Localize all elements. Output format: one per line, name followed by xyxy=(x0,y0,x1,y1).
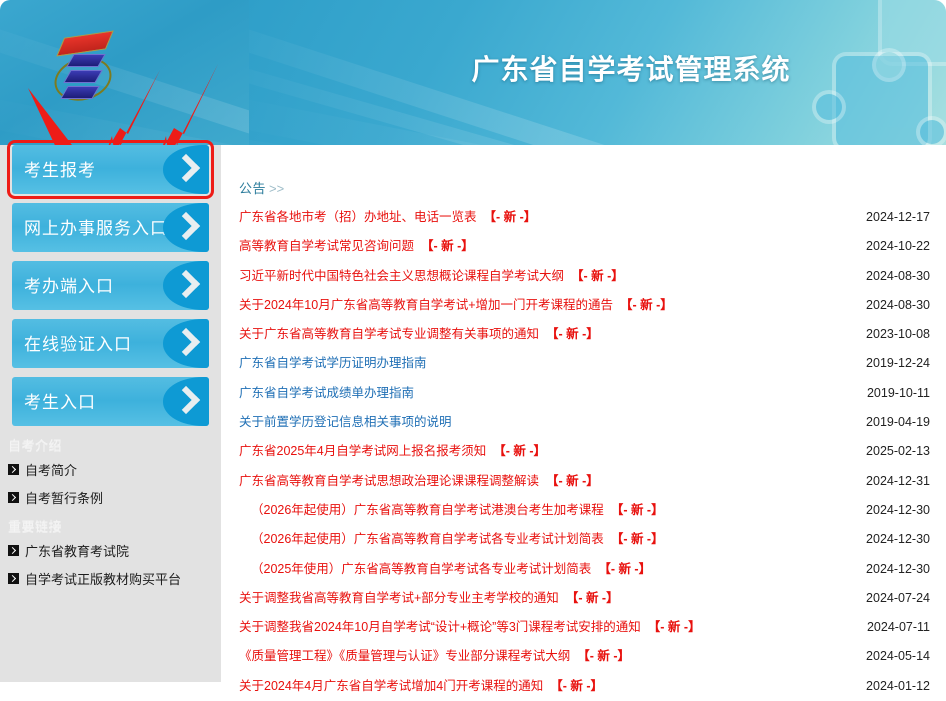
notice-title-link[interactable]: 关于调整我省高等教育自学考试+部分专业主考学校的通知 xyxy=(239,591,559,605)
new-badge: 【- 新 -】 xyxy=(546,474,599,488)
new-badge: 【- 新 -】 xyxy=(598,562,651,576)
sidebar-nav-online-service-portal[interactable]: 网上办事服务入口 xyxy=(12,203,209,252)
notice-title-link[interactable]: 《质量管理工程》《质量管理与认证》专业部分课程考试大纲 xyxy=(239,649,570,663)
new-badge: 【- 新 -】 xyxy=(577,649,630,663)
notice-title-link[interactable]: （2025年使用）广东省高等教育自学考试各专业考试计划简表 xyxy=(251,562,591,576)
notice-list: 广东省各地市考（招）办地址、电话一览表【- 新 -】2024-12-17高等教育… xyxy=(221,203,946,701)
notice-row[interactable]: （2026年起使用）广东省高等教育自学考试各专业考试计划简表【- 新 -】202… xyxy=(221,525,946,554)
notice-title-link[interactable]: 高等教育自学考试常见咨询问题 xyxy=(239,239,414,253)
notice-row[interactable]: （2026年起使用）广东省高等教育自学考试港澳台考生加考课程【- 新 -】202… xyxy=(221,496,946,525)
notice-title-link[interactable]: （2026年起使用）广东省高等教育自学考试港澳台考生加考课程 xyxy=(251,503,604,517)
new-badge: 【- 新 -】 xyxy=(421,239,474,253)
notice-row[interactable]: 关于广东省高等教育自学考试专业调整有关事项的通知【- 新 -】2023-10-0… xyxy=(221,320,946,349)
notice-title-link[interactable]: 关于调整我省2024年10月自学考试“设计+概论”等3门课程考试安排的通知 xyxy=(239,620,641,634)
notice-row[interactable]: 广东省自学考试学历证明办理指南2019-12-24 xyxy=(221,349,946,378)
notice-row[interactable]: 关于调整我省高等教育自学考试+部分专业主考学校的通知【- 新 -】2024-07… xyxy=(221,584,946,613)
header-banner: 广东省自学考试管理系统 xyxy=(249,0,946,145)
site-logo-icon xyxy=(52,32,116,108)
new-badge: 【- 新 -】 xyxy=(550,679,603,693)
new-badge: 【- 新 -】 xyxy=(620,298,673,312)
notice-row[interactable]: 习近平新时代中国特色社会主义思想概论课程自学考试大纲【- 新 -】2024-08… xyxy=(221,262,946,291)
notice-date: 2024-12-17 xyxy=(866,203,930,232)
notice-row[interactable]: 关于2024年10月广东省高等教育自学考试+增加一门开考课程的通告【- 新 -】… xyxy=(221,291,946,320)
notice-date: 2024-08-30 xyxy=(866,262,930,291)
notice-date: 2024-12-30 xyxy=(866,525,930,554)
sidebar-link-gd-education-exam-authority[interactable]: 广东省教育考试院 xyxy=(8,541,221,560)
sidebar-section-heading-intro: 自考介绍 xyxy=(8,435,221,454)
notice-date: 2019-04-19 xyxy=(866,408,930,437)
site-title: 广东省自学考试管理系统 xyxy=(421,48,841,88)
page-header: 广东省自学考试管理系统 xyxy=(0,0,946,145)
notice-date: 2024-07-24 xyxy=(866,584,930,613)
nav-button-label: 考生入口 xyxy=(24,388,96,413)
notice-row[interactable]: 关于2024年4月广东省自学考试增加4门开考课程的通知【- 新 -】2024-0… xyxy=(221,672,946,701)
notice-section-header[interactable]: 公告>> xyxy=(239,178,284,197)
sidebar-link-label: 自考暂行条例 xyxy=(25,488,103,507)
nav-button-label: 网上办事服务入口 xyxy=(24,214,168,239)
nav-button-label: 在线验证入口 xyxy=(24,330,132,355)
new-badge: 【- 新 -】 xyxy=(484,210,537,224)
sidebar-link-label: 自学考试正版教材购买平台 xyxy=(25,569,181,588)
notice-row[interactable]: 广东省各地市考（招）办地址、电话一览表【- 新 -】2024-12-17 xyxy=(221,203,946,232)
notice-title-link[interactable]: 广东省各地市考（招）办地址、电话一览表 xyxy=(239,210,477,224)
notice-date: 2024-12-30 xyxy=(866,555,930,584)
arrow-bullet-icon xyxy=(8,573,19,584)
notice-date: 2024-05-14 xyxy=(866,642,930,671)
notice-row[interactable]: 广东省2025年4月自学考试网上报名报考须知【- 新 -】2025-02-13 xyxy=(221,437,946,466)
notice-title-link[interactable]: 广东省自学考试学历证明办理指南 xyxy=(239,356,427,370)
notice-row[interactable]: 广东省自学考试成绩单办理指南2019-10-11 xyxy=(221,379,946,408)
notice-row[interactable]: 关于前置学历登记信息相关事项的说明2019-04-19 xyxy=(221,408,946,437)
sidebar-link-interim-regulations[interactable]: 自考暂行条例 xyxy=(8,488,221,507)
sidebar: 考生报考 网上办事服务入口 考办端入口 在线验证入口 考生入口 自考介绍 自考简… xyxy=(0,145,221,682)
notice-row[interactable]: （2025年使用）广东省高等教育自学考试各专业考试计划简表【- 新 -】2024… xyxy=(221,555,946,584)
notice-title-link[interactable]: 关于2024年4月广东省自学考试增加4门开考课程的通知 xyxy=(239,679,543,693)
new-badge: 【- 新 -】 xyxy=(571,269,624,283)
notice-date: 2024-10-22 xyxy=(866,232,930,261)
notice-section-label: 公告 xyxy=(239,181,266,196)
new-badge: 【- 新 -】 xyxy=(546,327,599,341)
notice-row[interactable]: 关于调整我省2024年10月自学考试“设计+概论”等3门课程考试安排的通知【- … xyxy=(221,613,946,642)
notice-row[interactable]: 《质量管理工程》《质量管理与认证》专业部分课程考试大纲【- 新 -】2024-0… xyxy=(221,642,946,671)
new-badge: 【- 新 -】 xyxy=(648,620,701,634)
notice-more-chevron: >> xyxy=(269,181,284,196)
banner-streak xyxy=(0,92,249,145)
main-content: 公告>> 广东省各地市考（招）办地址、电话一览表【- 新 -】2024-12-1… xyxy=(221,145,946,682)
notice-row[interactable]: 广东省高等教育自学考试思想政治理论课课程调整解读【- 新 -】2024-12-3… xyxy=(221,467,946,496)
sidebar-nav-exam-registration[interactable]: 考生报考 xyxy=(12,145,209,194)
puzzle-knob-icon xyxy=(876,52,902,78)
notice-date: 2019-12-24 xyxy=(866,349,930,378)
notice-row[interactable]: 高等教育自学考试常见咨询问题【- 新 -】2024-10-22 xyxy=(221,232,946,261)
notice-title-link[interactable]: 广东省2025年4月自学考试网上报名报考须知 xyxy=(239,444,486,458)
nav-button-label: 考生报考 xyxy=(24,156,96,181)
notice-title-link[interactable]: 关于广东省高等教育自学考试专业调整有关事项的通知 xyxy=(239,327,539,341)
sidebar-link-self-study-intro[interactable]: 自考简介 xyxy=(8,460,221,479)
arrow-bullet-icon xyxy=(8,464,19,475)
notice-date: 2025-02-13 xyxy=(866,437,930,466)
nav-button-label: 考办端入口 xyxy=(24,272,114,297)
notice-title-link[interactable]: 关于前置学历登记信息相关事项的说明 xyxy=(239,415,452,429)
puzzle-knob-icon xyxy=(816,94,842,120)
puzzle-knob-icon xyxy=(920,120,944,144)
notice-title-link[interactable]: （2026年起使用）广东省高等教育自学考试各专业考试计划简表 xyxy=(251,532,604,546)
logo-cap-shape xyxy=(56,31,113,57)
notice-date: 2024-07-11 xyxy=(867,613,930,642)
new-badge: 【- 新 -】 xyxy=(611,532,664,546)
notice-title-link[interactable]: 习近平新时代中国特色社会主义思想概论课程自学考试大纲 xyxy=(239,269,564,283)
arrow-bullet-icon xyxy=(8,492,19,503)
notice-date: 2024-01-12 xyxy=(866,672,930,701)
new-badge: 【- 新 -】 xyxy=(566,591,619,605)
notice-date: 2024-12-31 xyxy=(866,467,930,496)
sidebar-link-label: 广东省教育考试院 xyxy=(25,541,129,560)
new-badge: 【- 新 -】 xyxy=(611,503,664,517)
notice-date: 2024-12-30 xyxy=(866,496,930,525)
notice-title-link[interactable]: 广东省自学考试成绩单办理指南 xyxy=(239,386,414,400)
notice-date: 2024-08-30 xyxy=(866,291,930,320)
sidebar-nav-exam-office-portal[interactable]: 考办端入口 xyxy=(12,261,209,310)
banner-streak xyxy=(0,10,249,145)
new-badge: 【- 新 -】 xyxy=(493,444,546,458)
arrow-bullet-icon xyxy=(8,545,19,556)
sidebar-nav-candidate-portal[interactable]: 考生入口 xyxy=(12,377,209,426)
sidebar-section-heading-links: 重要链接 xyxy=(8,516,221,535)
sidebar-link-label: 自考简介 xyxy=(25,460,77,479)
notice-title-link[interactable]: 关于2024年10月广东省高等教育自学考试+增加一门开考课程的通告 xyxy=(239,298,613,312)
notice-title-link[interactable]: 广东省高等教育自学考试思想政治理论课课程调整解读 xyxy=(239,474,539,488)
sidebar-link-textbook-purchase-platform[interactable]: 自学考试正版教材购买平台 xyxy=(8,569,221,588)
notice-date: 2023-10-08 xyxy=(866,320,930,349)
sidebar-nav-online-verification-portal[interactable]: 在线验证入口 xyxy=(12,319,209,368)
notice-date: 2019-10-11 xyxy=(867,379,930,408)
header-left-panel xyxy=(0,0,249,145)
